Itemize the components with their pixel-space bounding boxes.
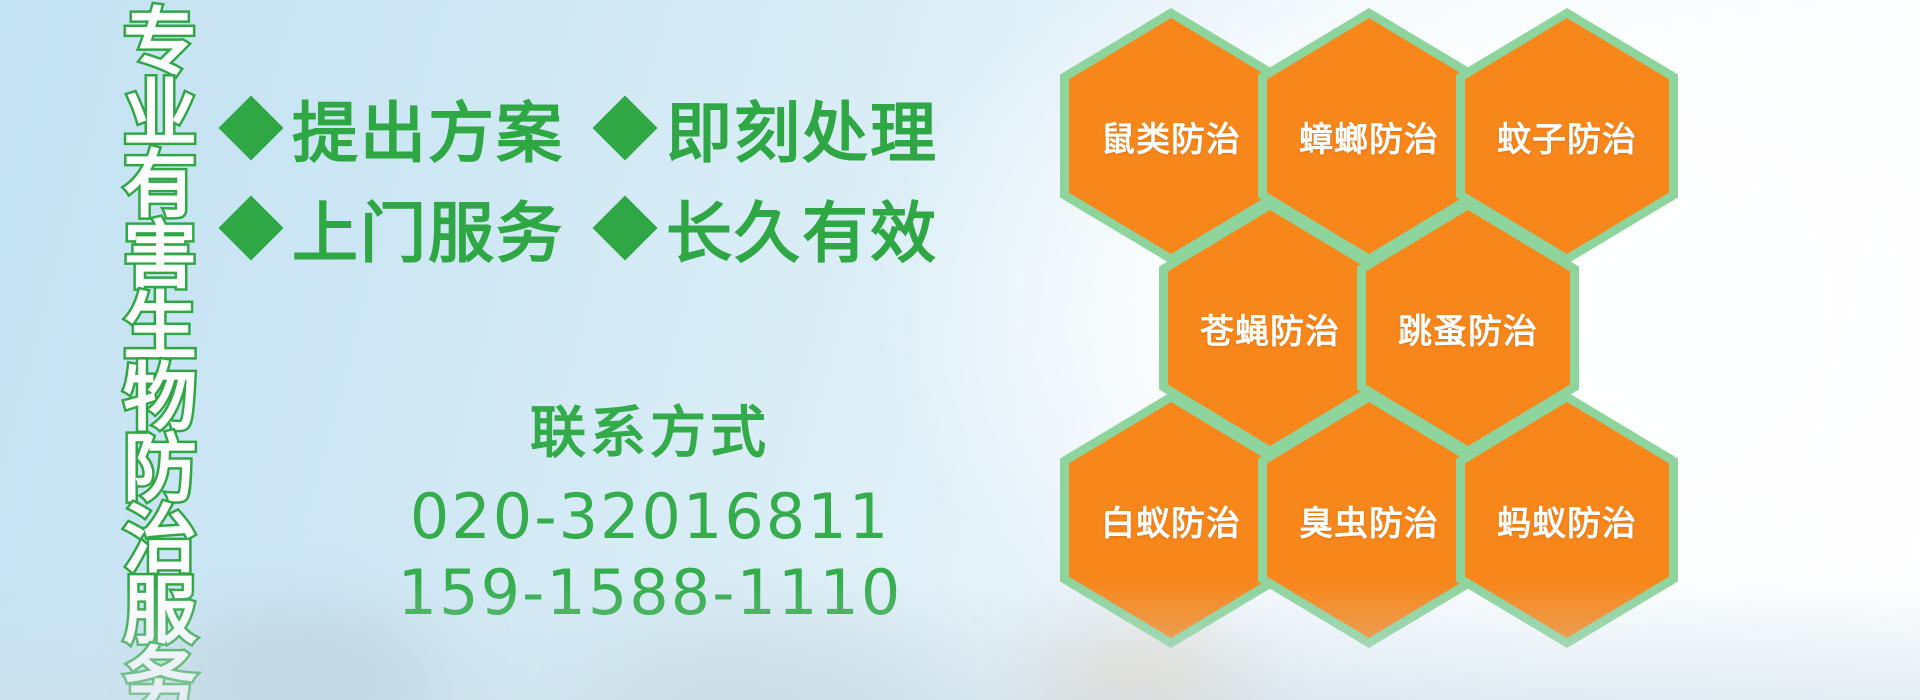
service-label: 蚂蚁防治 — [1497, 496, 1637, 545]
feature-label: 长久有效 — [666, 180, 938, 276]
service-label: 跳蚤防治 — [1398, 304, 1538, 353]
vertical-headline: 专 业 有 害 生 物 防 治 服 务 — [106, 8, 214, 700]
vertical-headline-char: 生 — [123, 292, 197, 363]
feature-item: 即刻处理 — [602, 80, 938, 176]
service-label: 鼠类防治 — [1101, 112, 1241, 161]
service-label: 蚊子防治 — [1497, 112, 1637, 161]
feature-row: 上门服务 长久有效 — [228, 178, 908, 278]
feature-item: 提出方案 — [228, 80, 564, 176]
decorative-blur-left — [180, 620, 440, 700]
phone-number-mobile[interactable]: 159-1588-1110 — [390, 555, 910, 631]
diamond-icon — [592, 95, 657, 160]
contact-title: 联系方式 — [390, 388, 910, 469]
decorative-blur-center — [600, 640, 930, 700]
vertical-headline-char: 害 — [123, 221, 197, 292]
phone-number-landline[interactable]: 020-32016811 — [390, 479, 910, 555]
contact-block: 联系方式 020-32016811 159-1588-1110 — [390, 388, 910, 630]
feature-list: 提出方案 即刻处理 上门服务 长久有效 — [228, 78, 908, 278]
vertical-headline-char: 专 — [123, 8, 197, 79]
feature-label: 上门服务 — [292, 180, 564, 276]
vertical-headline-char: 服 — [123, 576, 197, 647]
diamond-icon — [218, 195, 283, 260]
vertical-headline-char: 业 — [123, 79, 197, 150]
service-label: 蟑螂防治 — [1299, 112, 1439, 161]
service-label: 苍蝇防治 — [1200, 304, 1340, 353]
vertical-headline-char: 治 — [123, 505, 197, 576]
vertical-headline-char: 务 — [123, 647, 197, 700]
feature-label: 即刻处理 — [666, 80, 938, 176]
service-honeycomb: 鼠类防治 蟑螂防治 蚊子防治 苍蝇防治 跳蚤防治 白蚁防治 臭虫防治 蚂蚁 — [1060, 0, 1780, 700]
vertical-headline-char: 有 — [123, 150, 197, 221]
service-label: 白蚁防治 — [1101, 496, 1241, 545]
service-label: 臭虫防治 — [1299, 496, 1439, 545]
promo-banner: 专 业 有 害 生 物 防 治 服 务 提出方案 即刻处理 上门服务 — [0, 0, 1920, 700]
feature-label: 提出方案 — [292, 80, 564, 176]
diamond-icon — [592, 195, 657, 260]
vertical-headline-char: 物 — [123, 363, 197, 434]
vertical-headline-char: 防 — [123, 434, 197, 505]
feature-row: 提出方案 即刻处理 — [228, 78, 908, 178]
feature-item: 上门服务 — [228, 180, 564, 276]
feature-item: 长久有效 — [602, 180, 938, 276]
diamond-icon — [218, 95, 283, 160]
